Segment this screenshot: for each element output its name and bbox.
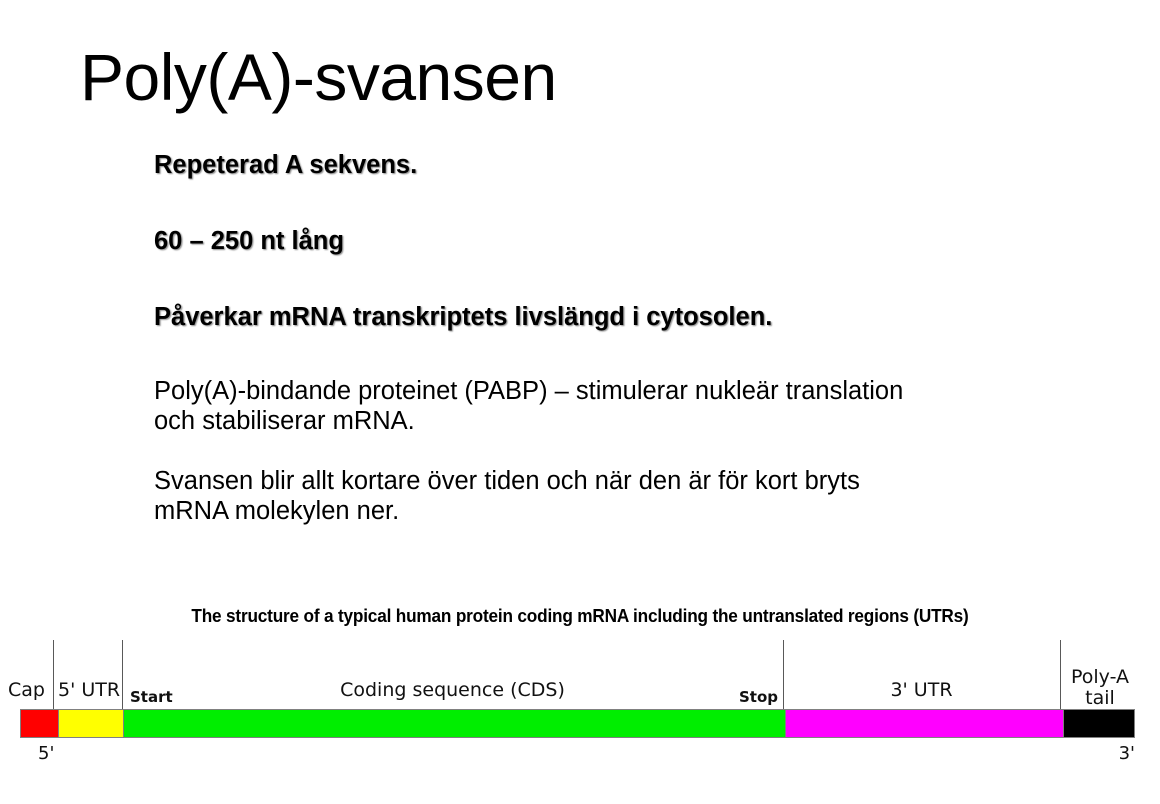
slide-root: { "slide": { "title": "Poly(A)-svansen",…	[0, 0, 1160, 804]
page-title: Poly(A)-svansen	[80, 44, 557, 110]
divider-cap-utr5	[53, 640, 54, 709]
start-codon-label: Start	[130, 688, 173, 706]
body-line-1: Repeterad A sekvens.	[154, 150, 1054, 180]
region-label-polya-tail: Poly-A tail	[1062, 667, 1138, 709]
region-label-polya-line1: Poly-A	[1062, 667, 1138, 688]
mrna-bar	[20, 709, 1135, 738]
region-label-5utr: 5' UTR	[58, 679, 120, 701]
divider-utr3-polya	[1060, 640, 1061, 709]
region-label-polya-line2: tail	[1062, 688, 1138, 709]
bar-segment-polya	[1063, 710, 1134, 737]
stop-codon-label: Stop	[683, 688, 778, 706]
bar-segment-cds	[123, 710, 785, 737]
region-label-cap: Cap	[8, 679, 45, 701]
mrna-structure-figure: The structure of a typical human protein…	[0, 595, 1160, 804]
spacer	[154, 332, 1054, 376]
region-label-3utr: 3' UTR	[783, 679, 1060, 701]
spacer	[154, 256, 1054, 302]
bar-segment-5utr	[58, 710, 123, 737]
figure-caption: The structure of a typical human protein…	[41, 605, 1120, 627]
body-text-block: Repeterad A sekvens. 60 – 250 nt lång På…	[154, 150, 1054, 526]
body-line-5: Svansen blir allt kortare över tiden och…	[154, 466, 1054, 526]
spacer	[154, 436, 1054, 466]
bar-segment-cap	[21, 710, 58, 737]
spacer	[154, 180, 1054, 226]
body-line-2: 60 – 250 nt lång	[154, 226, 1054, 256]
bar-segment-3utr	[785, 710, 1063, 737]
body-line-3: Påverkar mRNA transkriptets livslängd i …	[154, 302, 1054, 332]
body-line-4: Poly(A)-bindande proteinet (PABP) – stim…	[154, 376, 1054, 436]
three-prime-end-label: 3'	[1060, 743, 1135, 764]
five-prime-end-label: 5'	[38, 743, 54, 764]
